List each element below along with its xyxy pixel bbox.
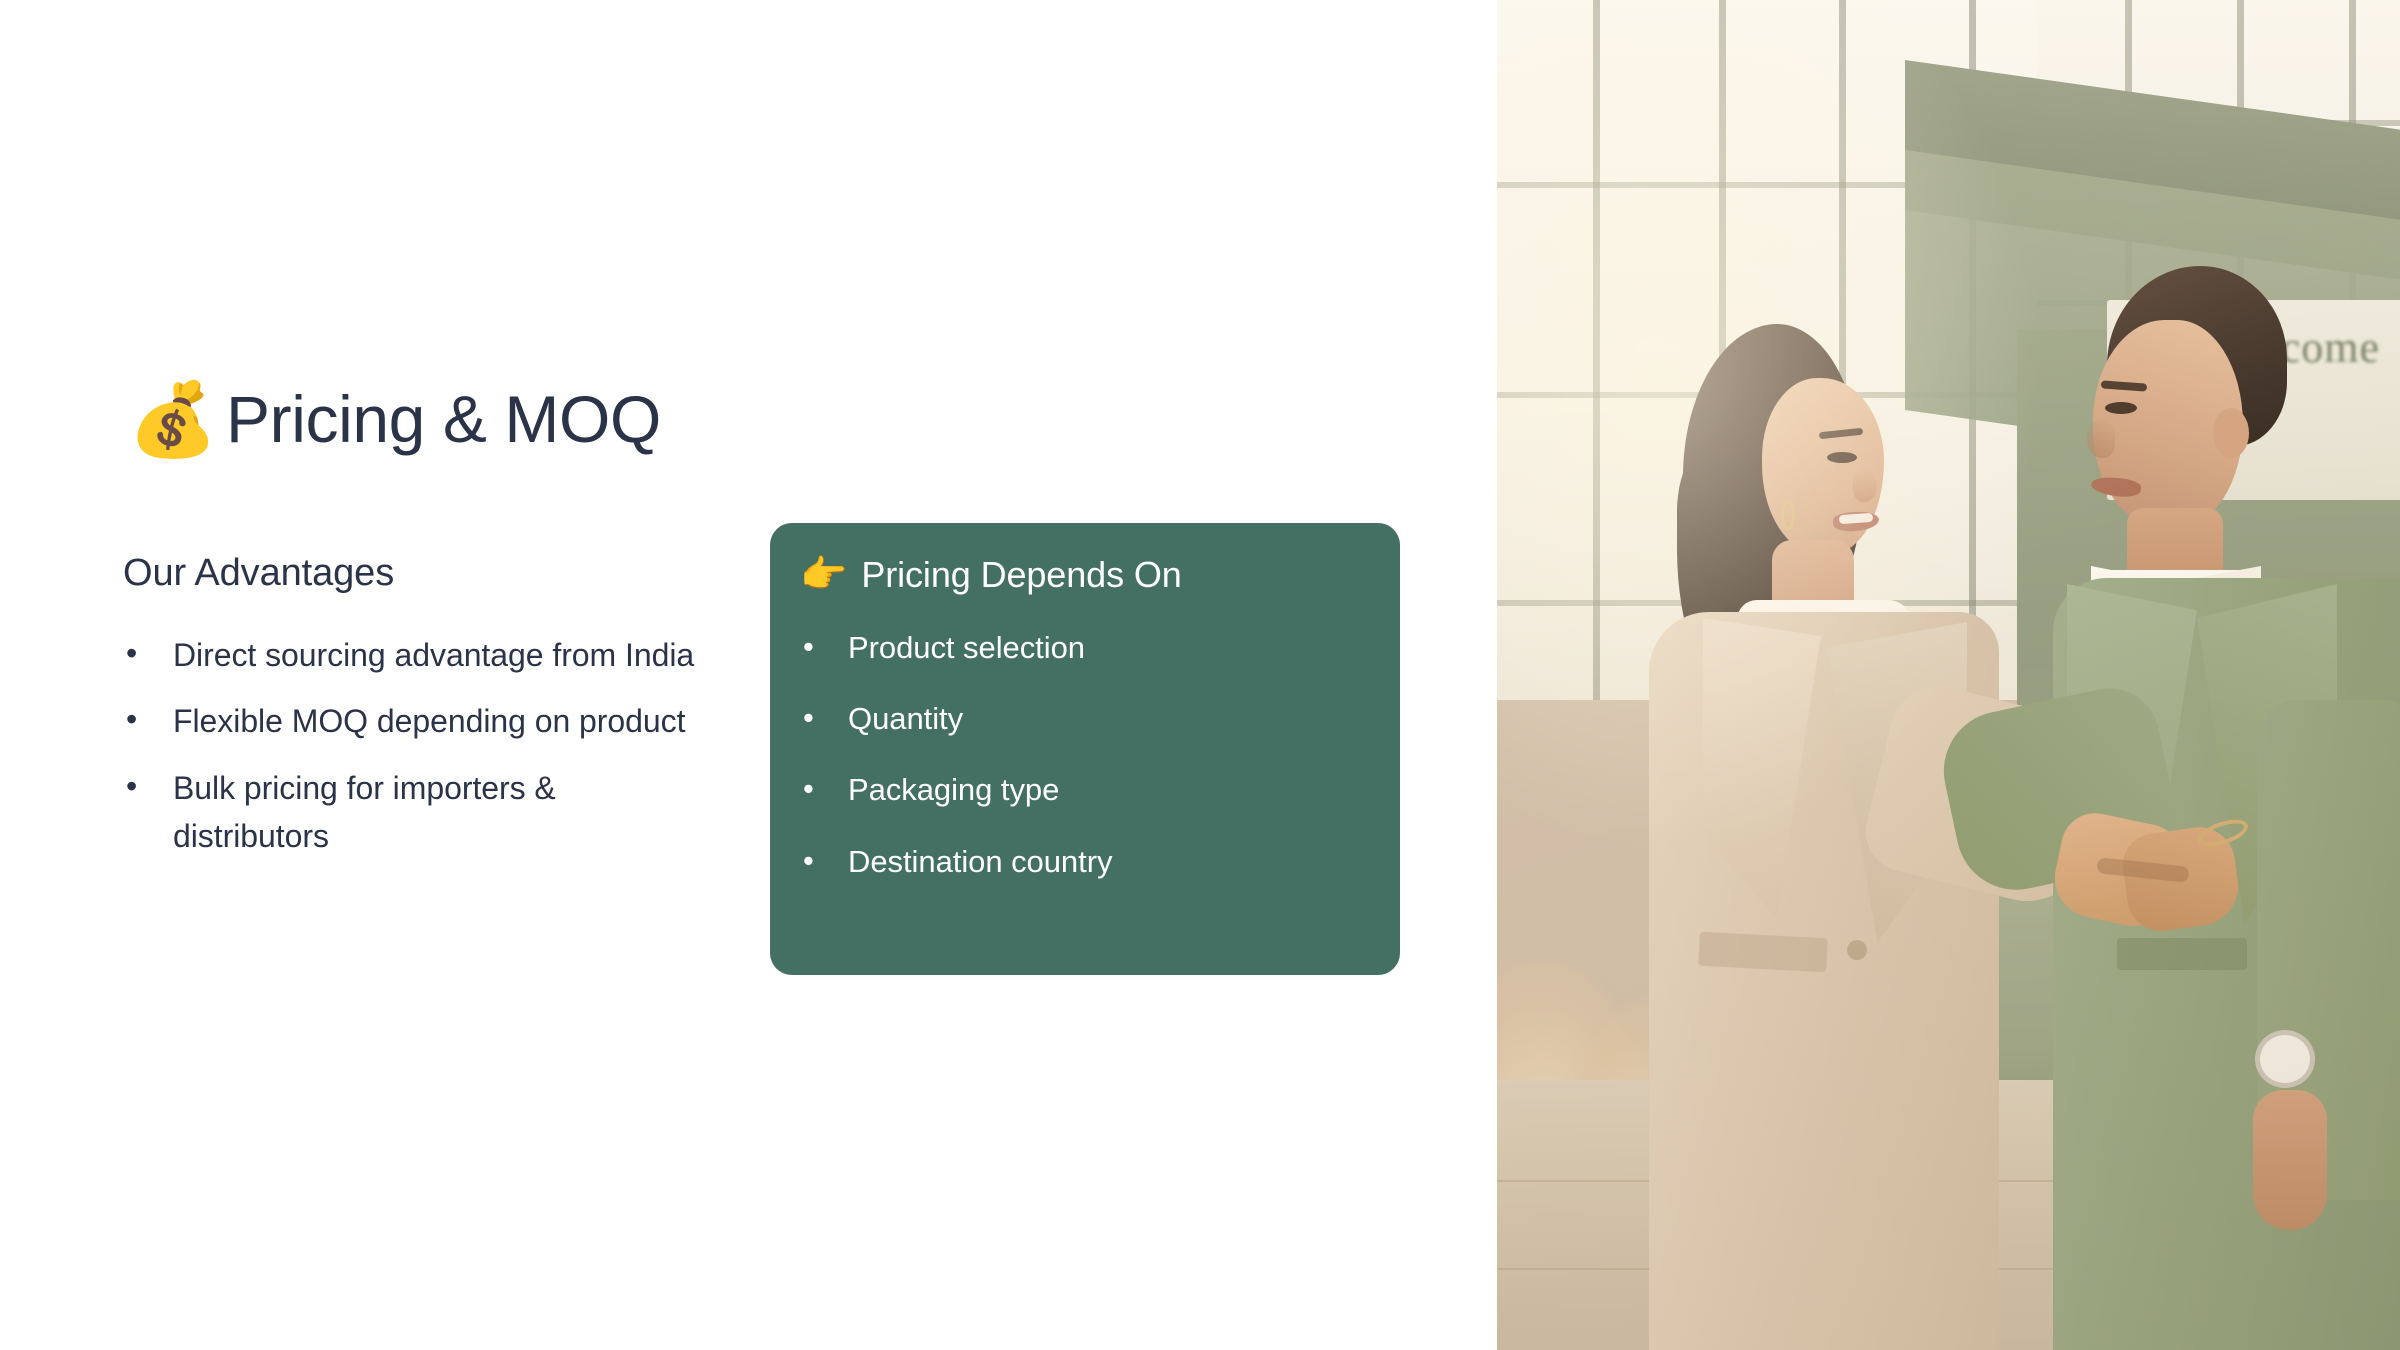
list-item: Packaging type [800, 769, 1370, 810]
content-area: 💰 Pricing & MOQ Our Advantages Direct so… [0, 0, 1497, 1350]
woman-eye [1827, 452, 1857, 463]
pricing-factors-list: Product selection Quantity Packaging typ… [800, 627, 1370, 912]
presentation-slide: 💰 Pricing & MOQ Our Advantages Direct so… [0, 0, 2400, 1350]
card-title: Pricing Depends On [861, 553, 1181, 596]
man-blazer-pocket [2117, 938, 2247, 970]
man-ear [2213, 408, 2249, 458]
window-mullion [1593, 0, 1600, 700]
list-item: Flexible MOQ depending on product [123, 697, 703, 746]
list-item: Bulk pricing for importers & distributor… [123, 764, 703, 861]
man-hand [2253, 1090, 2327, 1230]
list-item: Direct sourcing advantage from India [123, 631, 703, 680]
list-item: Quantity [800, 698, 1370, 739]
list-item: Destination country [800, 841, 1370, 882]
photo-scene: elcome [1497, 0, 2400, 1350]
woman-blazer-pocket [1698, 932, 1828, 973]
pointing-right-emoji: 👉 [800, 556, 847, 594]
woman-earring [1781, 500, 1795, 530]
man-nose [2087, 420, 2115, 458]
woman-blazer-button [1847, 940, 1867, 960]
pricing-depends-card: 👉 Pricing Depends On Product selection Q… [770, 523, 1400, 975]
man-eye [2105, 402, 2137, 414]
money-bag-emoji: 💰 [128, 384, 212, 456]
man-wristwatch [2255, 1030, 2315, 1088]
advantages-column: Our Advantages Direct sourcing advantage… [123, 550, 703, 879]
advantages-heading: Our Advantages [123, 550, 703, 598]
card-header-row: 👉 Pricing Depends On [800, 547, 1182, 603]
page-title: Pricing & MOQ [226, 385, 661, 454]
handshake-photo: elcome [1497, 0, 2400, 1350]
advantages-list: Direct sourcing advantage from India Fle… [123, 631, 703, 862]
list-item: Product selection [800, 627, 1370, 668]
slide-title-row: 💰 Pricing & MOQ [128, 372, 661, 468]
woman-nose [1853, 470, 1877, 502]
